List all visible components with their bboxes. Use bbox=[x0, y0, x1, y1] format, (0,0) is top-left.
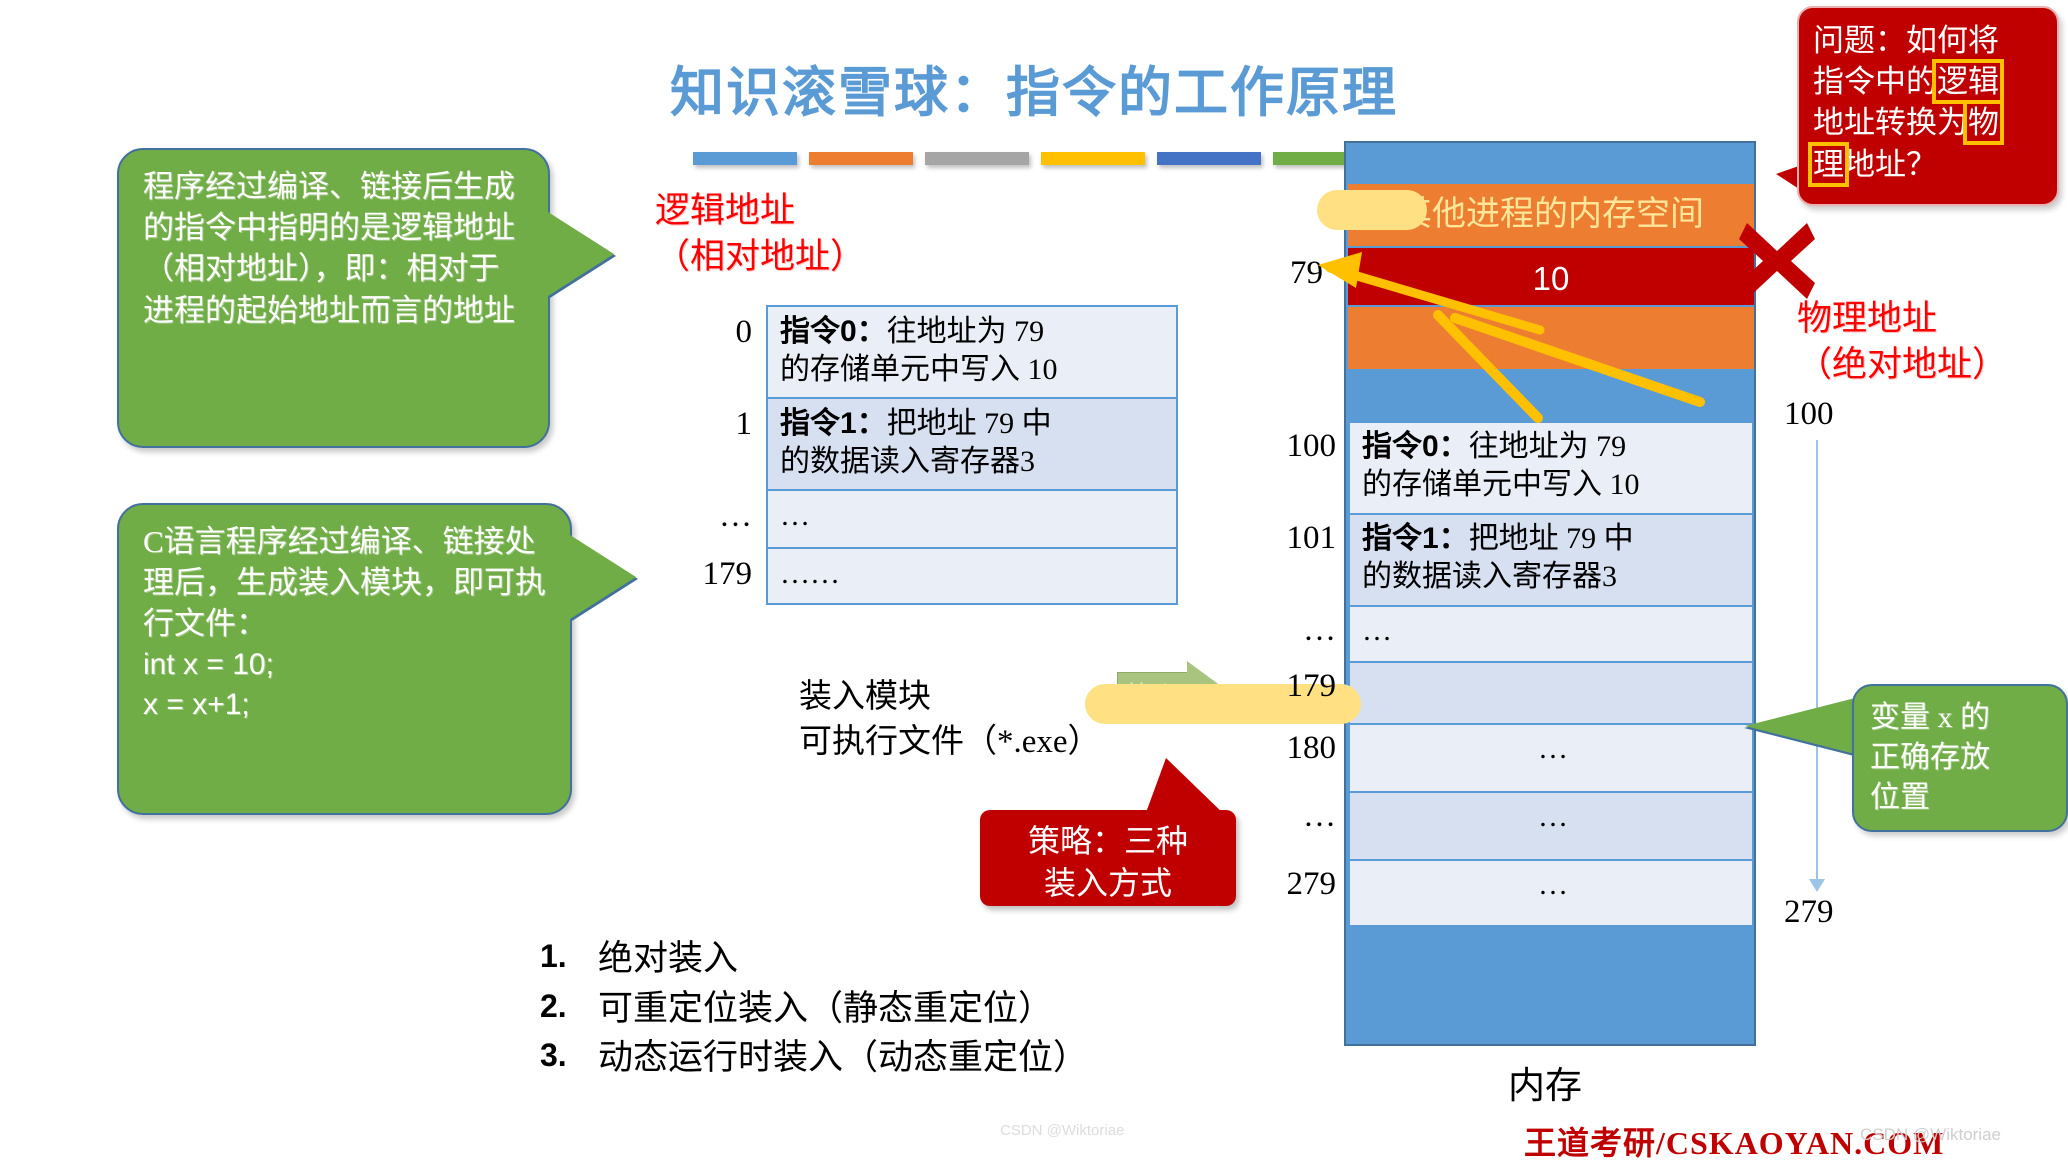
list-item-number: 3. bbox=[540, 1033, 598, 1083]
memory-cell-text-4: … bbox=[1538, 732, 1568, 765]
page-title: 知识滚雪球：指令的工作原理 bbox=[0, 48, 2068, 127]
instruction-text-2: … bbox=[780, 499, 810, 532]
memory-cell: 101 指令1：把地址 79 中的数据读入寄存器3 bbox=[1348, 513, 1754, 605]
question-line-4-post: 地址？ bbox=[1844, 147, 1937, 182]
colorbar-segment-4 bbox=[1041, 152, 1145, 165]
memory-address-101: 101 bbox=[1287, 517, 1337, 559]
question-highlight-physical-1: 物 bbox=[1968, 105, 1999, 140]
decorative-color-bar bbox=[693, 152, 1377, 165]
memory-address-ellipsis-1: … bbox=[1303, 609, 1336, 651]
memory-cell-text-6: … bbox=[1538, 868, 1568, 901]
memory-address-179: 179 bbox=[1287, 665, 1337, 707]
colorbar-segment-1 bbox=[693, 152, 797, 165]
strategy-callout-tail bbox=[1144, 758, 1228, 818]
callout-c-program-tail bbox=[570, 535, 636, 619]
colorbar-segment-5 bbox=[1157, 152, 1261, 165]
instruction-text-0: 指令0：往地址为 79的存储单元中写入 10 bbox=[780, 315, 1058, 386]
memory-cell: 179 bbox=[1348, 661, 1754, 723]
red-cross-icon bbox=[1733, 217, 1821, 305]
instruction-address-3: 179 bbox=[703, 553, 753, 595]
callout-c-program-text: C语言程序经过编译、链接处理后，生成装入模块，即可执行文件： bbox=[143, 521, 550, 645]
callout-compile-link-text: 程序经过编译、链接后生成的指令中指明的是逻辑地址（相对地址），即：相对于进程的起… bbox=[143, 169, 515, 328]
memory-cell: 180 … bbox=[1348, 723, 1754, 791]
callout-compile-link-tail bbox=[548, 212, 614, 296]
question-line-2-pre: 指令中的 bbox=[1813, 64, 1937, 99]
question-line-4: 理地址？ bbox=[1813, 144, 2049, 185]
memory-cell: … … bbox=[1348, 605, 1754, 661]
list-item-text: 绝对装入 bbox=[598, 934, 738, 984]
memory-cell-text-5: … bbox=[1538, 800, 1568, 833]
instruction-address-0: 0 bbox=[736, 311, 753, 353]
memory-cell: … … bbox=[1348, 791, 1754, 859]
table-row: 179 …… bbox=[766, 547, 1178, 605]
list-item-number: 2. bbox=[540, 984, 598, 1034]
colorbar-segment-3 bbox=[925, 152, 1029, 165]
memory-value-cell-10: 10 bbox=[1348, 246, 1754, 307]
table-row: … … bbox=[766, 489, 1178, 547]
logical-address-label: 逻辑地址 （相对地址） bbox=[655, 188, 865, 279]
strategy-callout: 策略：三种 装入方式 bbox=[980, 810, 1236, 906]
list-item: 2. 可重定位装入（静态重定位） bbox=[540, 984, 1088, 1034]
memory-address-ellipsis-2: … bbox=[1303, 795, 1336, 837]
list-item: 1. 绝对装入 bbox=[540, 934, 1088, 984]
memory-tick-79: 79 bbox=[1290, 255, 1323, 292]
instruction-table: 0 指令0：往地址为 79的存储单元中写入 10 1 指令1：把地址 79 中的… bbox=[766, 305, 1178, 605]
question-line-1: 问题：如何将 bbox=[1813, 20, 2049, 61]
question-callout: 问题：如何将 指令中的逻辑 地址转换为物 理地址？ bbox=[1797, 6, 2059, 206]
variable-location-callout: 变量 x 的 正确存放 位置 bbox=[1852, 684, 2068, 832]
question-line-2: 指令中的逻辑 bbox=[1813, 61, 2049, 102]
watermark-faint: CSDN @Wiktoriae bbox=[1000, 1122, 1124, 1139]
memory-cell: 279 … bbox=[1348, 859, 1754, 927]
list-item: 3. 动态运行时装入（动态重定位） bbox=[540, 1033, 1088, 1083]
memory-range-arrow bbox=[1816, 440, 1818, 880]
colorbar-segment-2 bbox=[809, 152, 913, 165]
memory-address-100: 100 bbox=[1287, 425, 1337, 467]
memory-address-279: 279 bbox=[1287, 863, 1337, 905]
memory-cell-text-1: 指令1：把地址 79 中的数据读入寄存器3 bbox=[1362, 522, 1634, 593]
question-highlight-physical-2: 理 bbox=[1813, 147, 1844, 182]
memory-cell: 100 指令0：往地址为 79的存储单元中写入 10 bbox=[1348, 421, 1754, 513]
table-row: 1 指令1：把地址 79 中的数据读入寄存器3 bbox=[766, 397, 1178, 489]
c-code-line-1: int x = 10; bbox=[143, 645, 550, 685]
callout-compile-link: 程序经过编译、链接后生成的指令中指明的是逻辑地址（相对地址），即：相对于进程的起… bbox=[117, 148, 550, 448]
load-module-caption: 装入模块 可执行文件（*.exe） bbox=[799, 675, 1101, 764]
memory-caption: 内存 bbox=[1508, 1055, 1582, 1109]
memory-tick-100-right: 100 bbox=[1784, 396, 1834, 433]
load-method-list: 1. 绝对装入 2. 可重定位装入（静态重定位） 3. 动态运行时装入（动态重定… bbox=[540, 934, 1088, 1083]
question-highlight-logical: 逻辑 bbox=[1937, 64, 1999, 99]
memory-cell-text-2: … bbox=[1362, 614, 1392, 647]
list-item-text: 可重定位装入（静态重定位） bbox=[598, 984, 1053, 1034]
highlight-pill-top bbox=[1317, 190, 1427, 230]
memory-column: 其他进程的内存空间 10 100 指令0：往地址为 79的存储单元中写入 10 … bbox=[1344, 141, 1756, 1046]
memory-cell-text-0: 指令0：往地址为 79的存储单元中写入 10 bbox=[1362, 430, 1640, 501]
c-code-line-2: x = x+1; bbox=[143, 685, 550, 725]
instruction-text-1: 指令1：把地址 79 中的数据读入寄存器3 bbox=[780, 407, 1052, 478]
list-item-number: 1. bbox=[540, 934, 598, 984]
instruction-address-1: 1 bbox=[736, 403, 753, 445]
question-line-3: 地址转换为物 bbox=[1813, 102, 2049, 143]
callout-c-program: C语言程序经过编译、链接处理后，生成装入模块，即可执行文件： int x = 1… bbox=[117, 503, 572, 815]
question-line-3-pre: 地址转换为 bbox=[1813, 105, 1968, 140]
table-row: 0 指令0：往地址为 79的存储单元中写入 10 bbox=[766, 305, 1178, 397]
instruction-address-2: … bbox=[719, 495, 752, 537]
watermark-sub: CSDN @Wiktoriae bbox=[1860, 1125, 2001, 1145]
variable-callout-tail bbox=[1745, 698, 1855, 754]
memory-tick-279-right: 279 bbox=[1784, 894, 1834, 931]
list-item-text: 动态运行时装入（动态重定位） bbox=[598, 1033, 1088, 1083]
other-process-band-2 bbox=[1348, 307, 1754, 369]
instruction-text-3: …… bbox=[780, 557, 840, 590]
physical-address-label: 物理地址 （绝对地址） bbox=[1797, 296, 2007, 387]
memory-address-180: 180 bbox=[1287, 727, 1337, 769]
